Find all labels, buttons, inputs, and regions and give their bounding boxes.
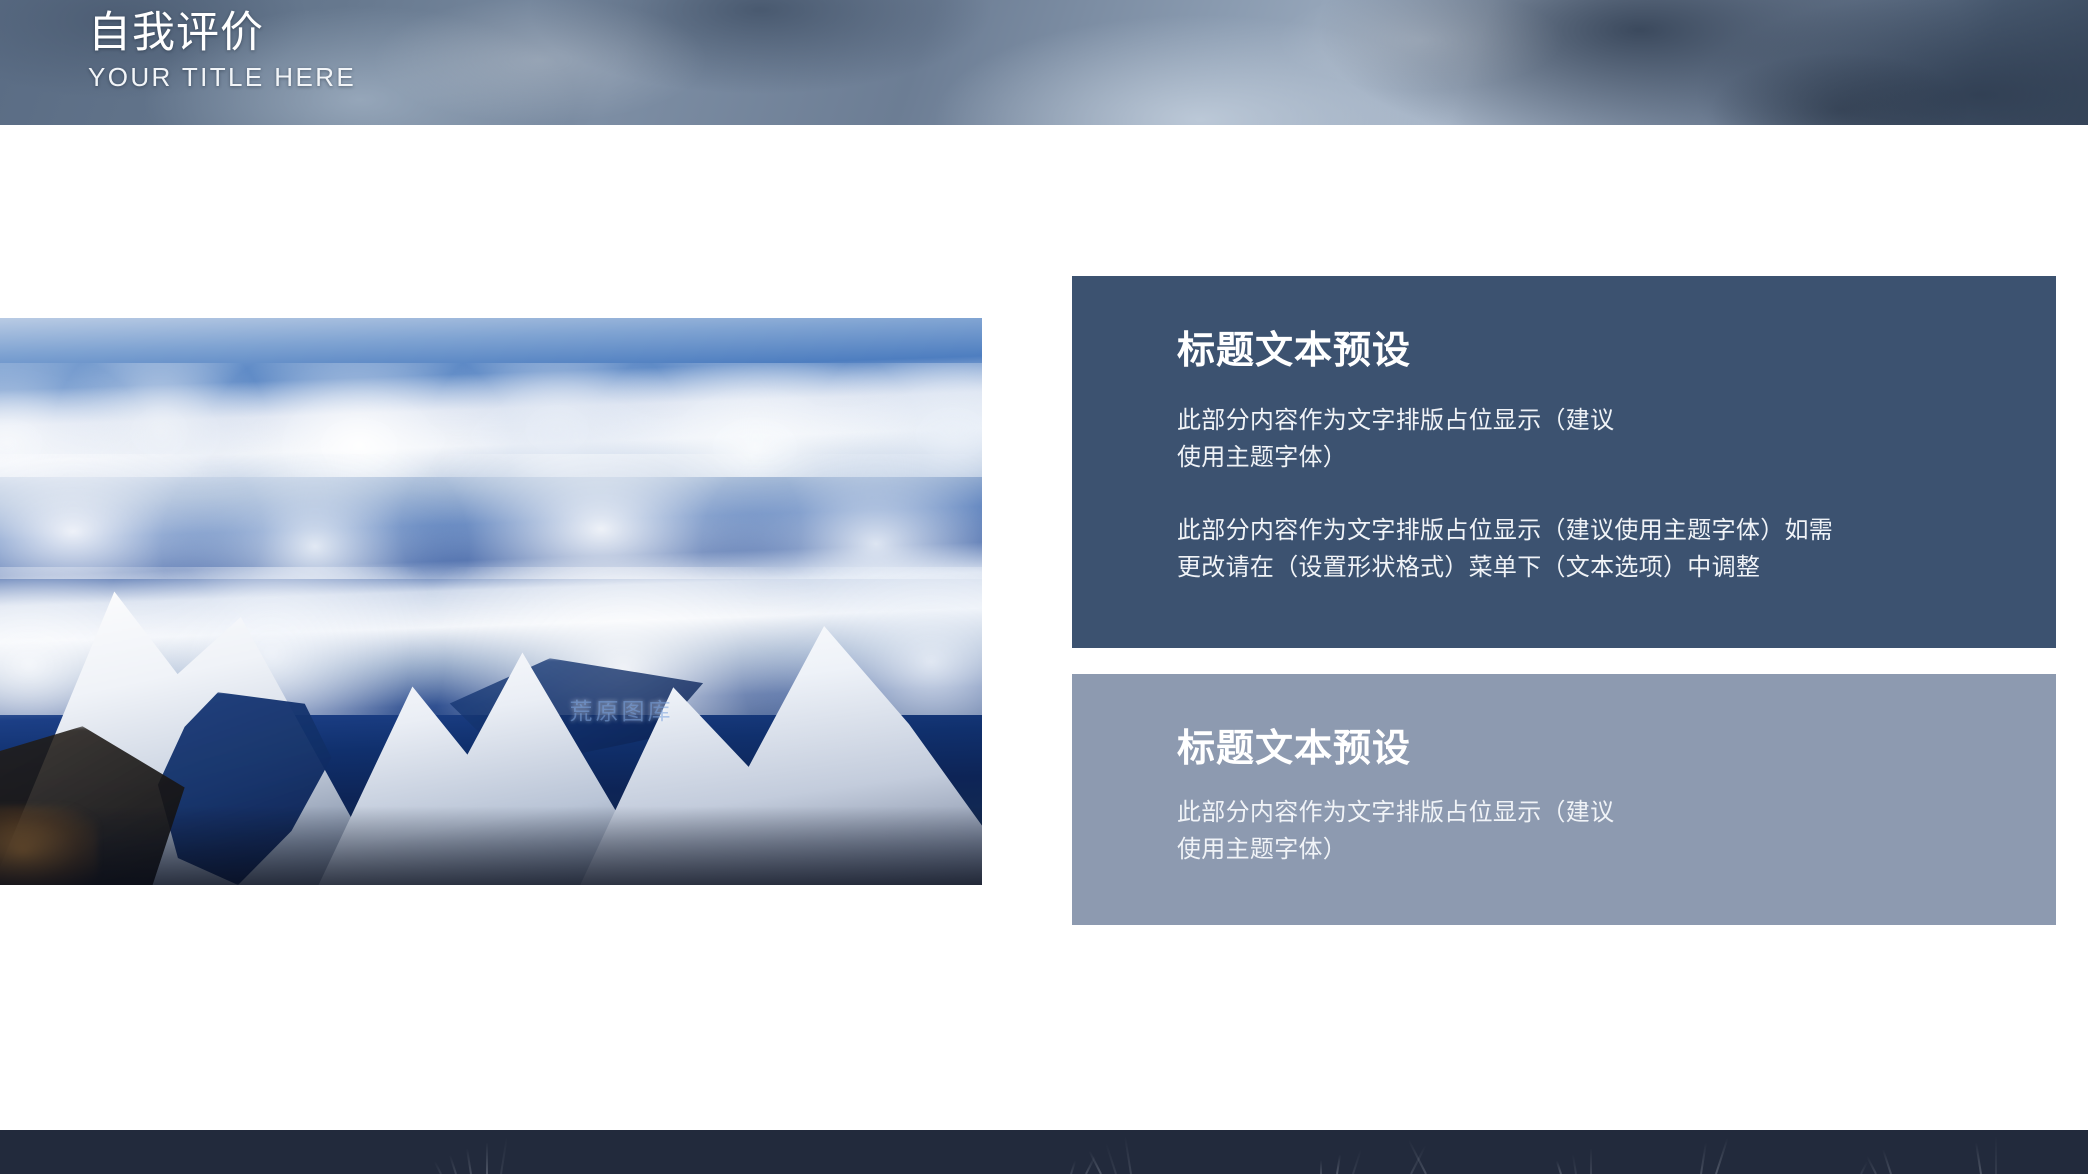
panel-primary-paragraph-1: 此部分内容作为文字排版占位显示（建议使用主题字体）	[1177, 402, 1637, 476]
header-text-group: 自我评价 YOUR TITLE HERE	[88, 8, 356, 93]
footer-bar	[0, 1130, 2088, 1174]
footer-twig-decoration	[434, 1161, 442, 1174]
footer-twig-decoration	[1556, 1160, 1562, 1174]
content-panel-secondary: 标题文本预设 此部分内容作为文字排版占位显示（建议使用主题字体）	[1072, 674, 2056, 925]
footer-twig-decoration	[1070, 1160, 1076, 1174]
panel-primary-title: 标题文本预设	[1177, 328, 1998, 374]
photo-watermark: 荒原图库	[570, 692, 674, 726]
footer-twig-decoration	[486, 1142, 488, 1174]
content-panel-primary: 标题文本预设 此部分内容作为文字排版占位显示（建议使用主题字体） 此部分内容作为…	[1072, 276, 2056, 648]
footer-twig-decoration	[1882, 1149, 1892, 1174]
footer-twig-decoration	[1700, 1142, 1707, 1174]
footer-twig-decoration	[1866, 1156, 1877, 1174]
footer-twig-decoration	[1590, 1148, 1592, 1174]
footer-twig-decoration	[449, 1155, 457, 1174]
footer-twig-decoration	[1715, 1138, 1729, 1174]
footer-twig-decoration	[1124, 1136, 1132, 1174]
footer-twig-decoration	[1105, 1143, 1117, 1174]
footer-twig-decoration	[1572, 1154, 1577, 1174]
footer-twig-decoration	[1320, 1160, 1322, 1174]
photo-bottom-vignette	[0, 806, 982, 885]
footer-twig-decoration	[466, 1148, 472, 1174]
photo-ridge-mid	[0, 454, 982, 579]
panel-secondary-title: 标题文本预设	[1177, 726, 1998, 772]
page-title: 自我评价	[88, 8, 356, 59]
footer-twig-decoration	[1995, 1136, 1997, 1174]
panel-primary-paragraph-2: 此部分内容作为文字排版占位显示（建议使用主题字体）如需更改请在（设置形状格式）菜…	[1177, 512, 1837, 586]
footer-twig-decoration	[500, 1136, 508, 1174]
mountain-photo: 荒原图库	[0, 318, 982, 885]
panel-secondary-paragraph-1: 此部分内容作为文字排版占位显示（建议使用主题字体）	[1177, 794, 1637, 868]
page-subtitle: YOUR TITLE HERE	[88, 62, 356, 93]
header-banner: 自我评价 YOUR TITLE HERE	[0, 0, 2088, 125]
footer-twig-decoration	[1975, 1142, 1982, 1174]
slide-root: 自我评价 YOUR TITLE HERE 荒原图库 标题文本预设 此部分内容作为…	[0, 0, 2088, 1174]
footer-twig-decoration	[1336, 1154, 1341, 1174]
footer-twig-decoration	[1860, 1161, 1868, 1174]
footer-twig-decoration	[1352, 1149, 1362, 1174]
